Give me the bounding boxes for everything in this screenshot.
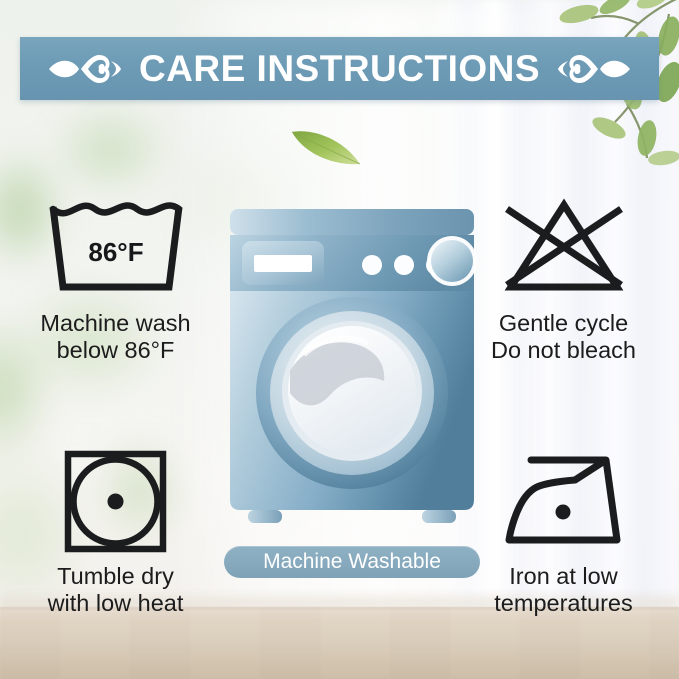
care-label-line1: Tumble dry bbox=[57, 563, 174, 589]
care-label-line1: Gentle cycle bbox=[499, 310, 628, 336]
fleuron-ornament-left-icon bbox=[47, 47, 121, 91]
care-label-line1: Machine wash bbox=[40, 310, 190, 336]
page-title: CARE INSTRUCTIONS bbox=[139, 48, 540, 90]
wash-tub-icon: 86°F bbox=[41, 195, 191, 301]
care-label-line2: with low heat bbox=[48, 590, 184, 616]
care-label-gentle-cycle: Gentle cycle Do not bleach bbox=[491, 310, 636, 364]
washer-top-lid bbox=[230, 209, 474, 235]
iron-low-heat-icon-wrap bbox=[489, 445, 639, 557]
care-item-tumble-dry-low: Tumble dry with low heat bbox=[8, 445, 223, 617]
control-display-screen bbox=[254, 255, 312, 272]
care-item-iron-low: Iron at low temperatures bbox=[456, 445, 671, 617]
care-label-tumble-dry: Tumble dry with low heat bbox=[48, 563, 184, 617]
tumble-dry-low-icon-wrap bbox=[41, 445, 191, 557]
care-instructions-card: CARE INSTRUCTIONS 86°F Machine wash belo… bbox=[0, 0, 679, 679]
care-label-line2: below 86°F bbox=[57, 337, 175, 363]
green-leaf-icon bbox=[288, 122, 364, 170]
control-button-2 bbox=[394, 255, 414, 275]
control-button-1 bbox=[362, 255, 382, 275]
care-label-line2: Do not bleach bbox=[491, 337, 636, 363]
crossed-triangle-icon-wrap bbox=[489, 192, 639, 304]
washer-foot-left bbox=[248, 510, 282, 523]
iron-low-heat-icon bbox=[489, 448, 639, 554]
crossed-triangle-icon bbox=[489, 195, 639, 301]
wooden-table-surface bbox=[0, 607, 679, 679]
care-label-line2: temperatures bbox=[494, 590, 632, 616]
washing-machine-illustration bbox=[224, 203, 480, 538]
wash-tub-icon-wrap: 86°F bbox=[41, 192, 191, 304]
status-badge-label: Machine Washable bbox=[263, 550, 441, 574]
wash-temperature-text: 86°F bbox=[88, 237, 143, 267]
header-banner: CARE INSTRUCTIONS bbox=[20, 37, 659, 100]
care-label-machine-wash: Machine wash below 86°F bbox=[40, 310, 190, 364]
status-badge: Machine Washable bbox=[224, 546, 480, 578]
care-label-line1: Iron at low bbox=[509, 563, 617, 589]
tumble-dry-low-icon bbox=[41, 448, 191, 554]
care-label-iron: Iron at low temperatures bbox=[494, 563, 632, 617]
care-item-machine-wash: 86°F Machine wash below 86°F bbox=[8, 192, 223, 364]
washer-foot-right bbox=[422, 510, 456, 523]
care-item-gentle-cycle-no-bleach: Gentle cycle Do not bleach bbox=[456, 192, 671, 364]
control-knob bbox=[431, 240, 473, 282]
fleuron-ornament-right-icon bbox=[558, 47, 632, 91]
